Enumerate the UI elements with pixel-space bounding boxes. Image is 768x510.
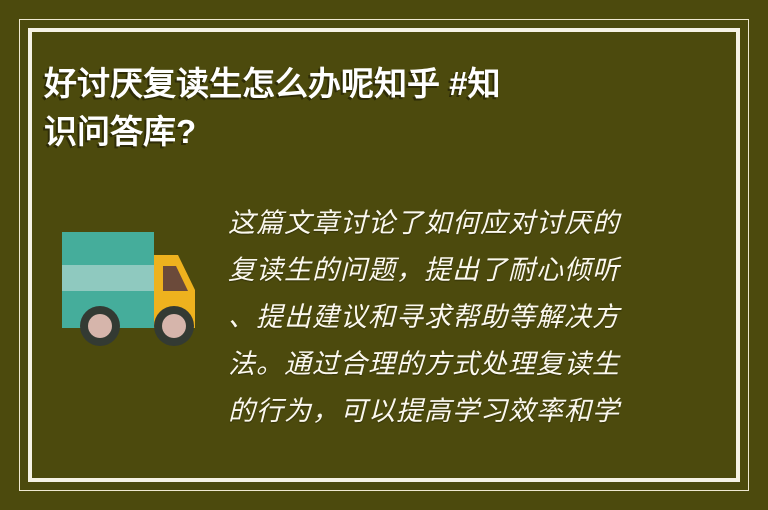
article-card: 好讨厌复读生怎么办呢知乎 #知 识问答库? 这篇文章讨论了如何应对讨厌的 复读生… (0, 0, 768, 510)
summary-line-4: 法。通过合理的方式处理复读生 (228, 341, 668, 388)
page-title: 好讨厌复读生怎么办呢知乎 #知 识问答库? (44, 60, 704, 156)
summary-line-1: 这篇文章讨论了如何应对讨厌的 (228, 200, 668, 247)
title-line-1: 好讨厌复读生怎么办呢知乎 #知 (44, 60, 704, 108)
delivery-truck-icon (55, 222, 205, 347)
summary-line-2: 复读生的问题，提出了耐心倾听 (228, 247, 668, 294)
summary-line-3: 、提出建议和寻求帮助等解决方 (228, 294, 668, 341)
summary-line-5: 的行为，可以提高学习效率和学 (228, 388, 668, 435)
title-line-2: 识问答库? (44, 108, 704, 156)
article-summary: 这篇文章讨论了如何应对讨厌的 复读生的问题，提出了耐心倾听 、提出建议和寻求帮助… (228, 200, 668, 480)
